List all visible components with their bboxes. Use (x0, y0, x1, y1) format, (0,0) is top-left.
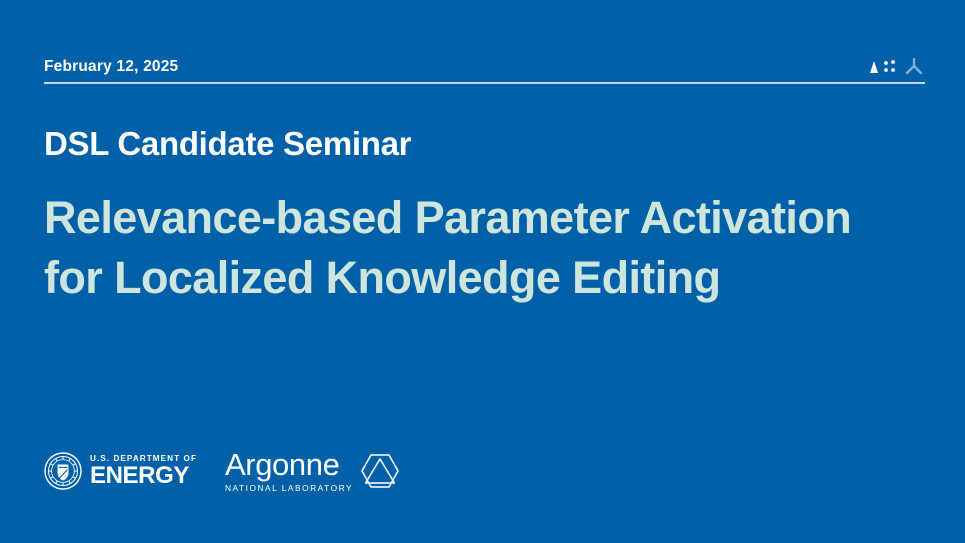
seminar-label: DSL Candidate Seminar (44, 126, 904, 162)
argonne-logo: Argonne NATIONAL LABORATORY (219, 449, 400, 493)
footer-logos: U.S. DEPARTMENT OF ENERGY Argonne NATION… (44, 449, 400, 493)
title-block: DSL Candidate Seminar Relevance-based Pa… (44, 126, 904, 307)
header-divider (44, 82, 925, 84)
argonne-subtitle: NATIONAL LABORATORY (225, 483, 353, 493)
presentation-date: February 12, 2025 (44, 58, 178, 76)
doe-seal-icon (44, 452, 82, 490)
doe-logo: U.S. DEPARTMENT OF ENERGY (44, 452, 197, 490)
argonne-name: Argonne (225, 449, 353, 480)
slide-header: February 12, 2025 (44, 58, 925, 88)
argonne-wordmark: Argonne NATIONAL LABORATORY (225, 449, 353, 493)
argonne-hexagon-icon (360, 452, 400, 490)
doe-agency-name: ENERGY (90, 465, 197, 487)
argonne-abstract-mark-icon (869, 55, 925, 77)
page-title: Relevance-based Parameter Activation for… (44, 188, 874, 307)
doe-wordmark: U.S. DEPARTMENT OF ENERGY (90, 455, 197, 487)
title-slide: February 12, 2025 DSL Candidate Seminar (0, 0, 965, 543)
